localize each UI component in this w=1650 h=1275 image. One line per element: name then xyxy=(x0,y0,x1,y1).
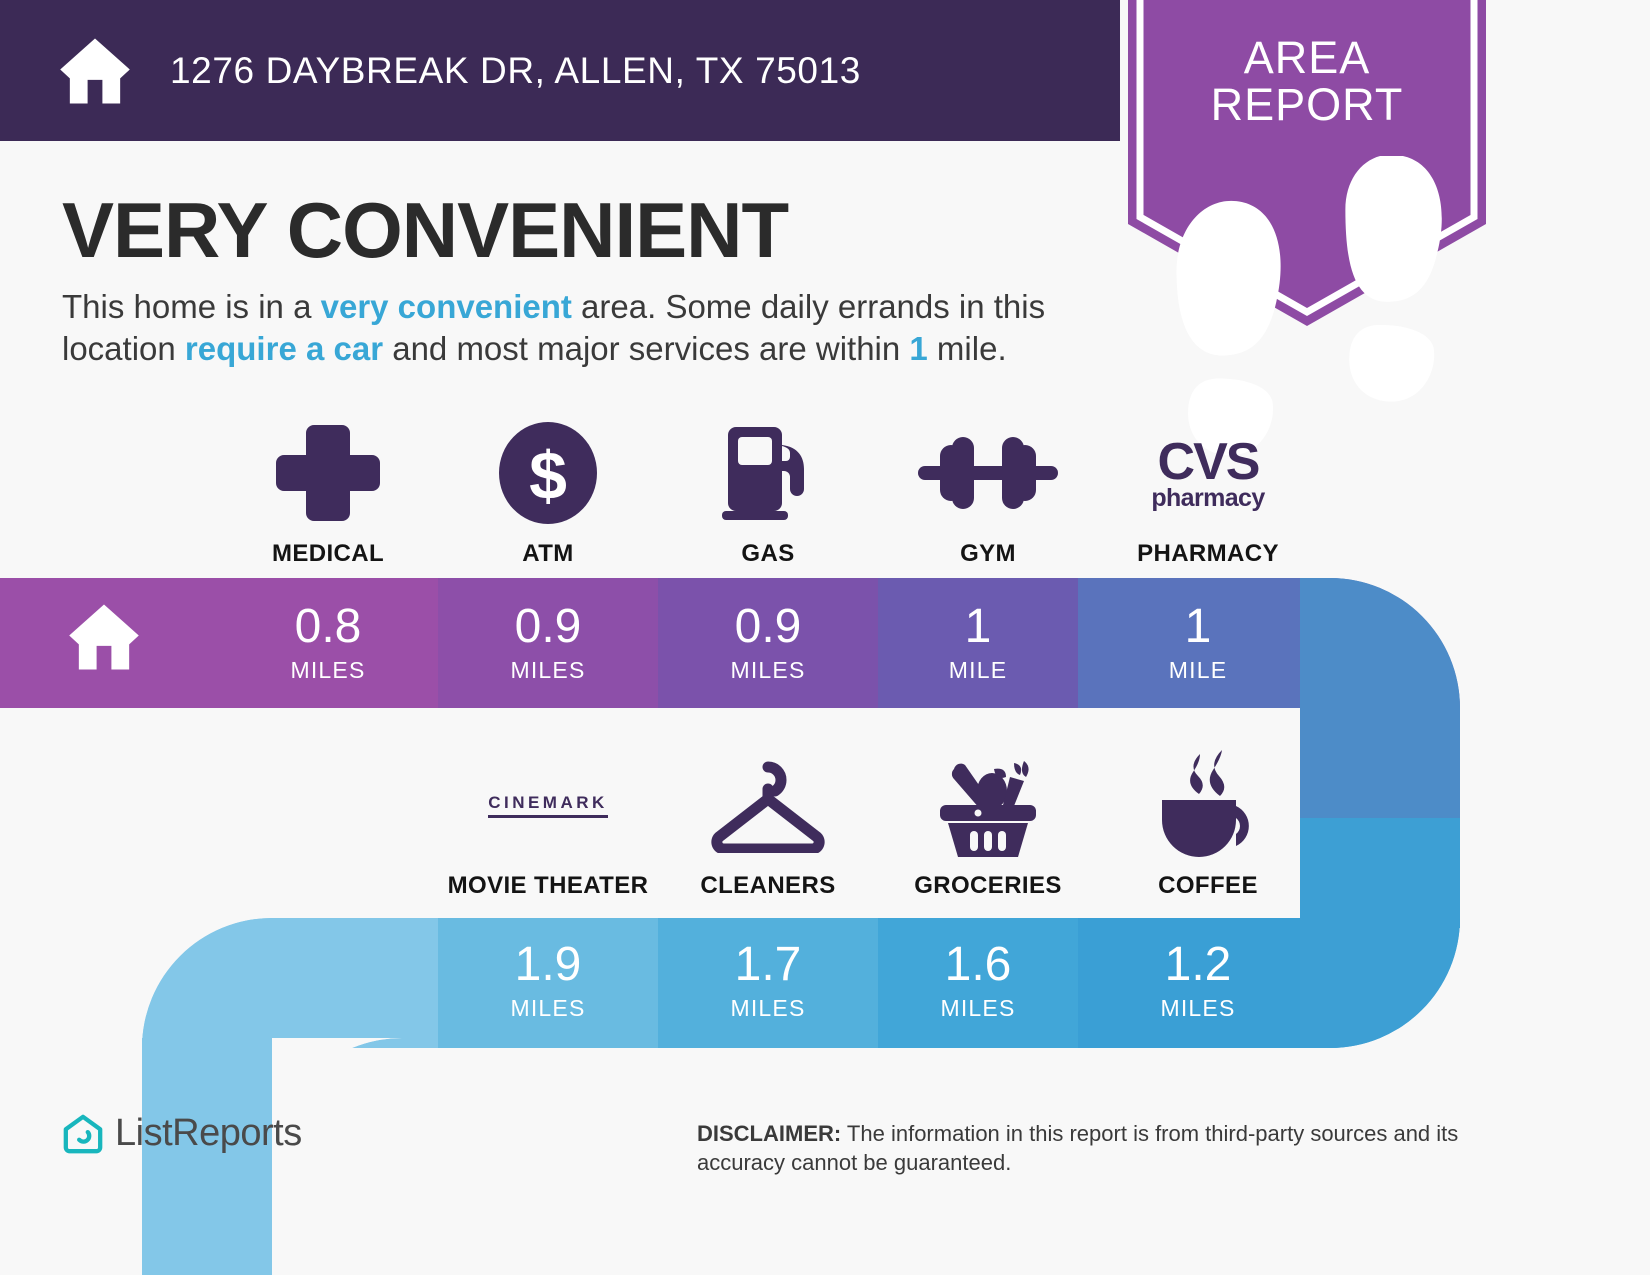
amenity-label: ATM xyxy=(522,540,573,568)
amenity-label: COFFEE xyxy=(1158,872,1258,900)
cvs-sub-wordmark: pharmacy xyxy=(1151,486,1264,511)
badge-line-1: AREA xyxy=(1128,34,1486,81)
medical-cross-icon xyxy=(276,420,380,526)
listreports-wordmark: ListReports xyxy=(115,1112,302,1155)
badge-title: AREA REPORT xyxy=(1128,34,1486,129)
amenity-gas: GAS xyxy=(658,420,878,568)
amenity-label: CLEANERS xyxy=(700,872,835,900)
header-bar: 1276 DAYBREAK DR, ALLEN, TX 75013 xyxy=(0,0,1120,141)
distance-bar-row-1 xyxy=(0,578,1460,708)
amenity-label: MOVIE THEATER xyxy=(448,872,649,900)
home-icon xyxy=(58,34,132,108)
amenity-label: GYM xyxy=(960,540,1016,568)
dumbbell-icon xyxy=(918,420,1058,526)
summary-description: This home is in a very convenient area. … xyxy=(62,286,1107,370)
cvs-pharmacy-logo: CVS pharmacy xyxy=(1151,420,1264,526)
disclaimer: DISCLAIMER: The information in this repo… xyxy=(697,1119,1509,1177)
listreports-logo: ListReports xyxy=(62,1112,302,1155)
distance-bar-row-2 xyxy=(272,918,1460,1048)
amenity-label: GROCERIES xyxy=(914,872,1062,900)
amenity-atm: $ ATM xyxy=(438,420,658,568)
dollar-circle-icon: $ xyxy=(498,420,598,526)
desc-highlight-2: require a car xyxy=(185,330,383,367)
grocery-basket-icon xyxy=(932,752,1044,858)
coffee-cup-icon xyxy=(1152,752,1264,858)
home-marker-icon xyxy=(66,600,142,674)
clothes-hanger-icon xyxy=(707,752,829,858)
area-report-page: 1276 DAYBREAK DR, ALLEN, TX 75013 AREA R… xyxy=(0,0,1650,1275)
badge-line-2: REPORT xyxy=(1128,81,1486,128)
amenity-label: GAS xyxy=(741,540,794,568)
amenity-icon-row-2: CINEMARK MOVIE THEATER CLEANERS xyxy=(438,752,1318,900)
amenity-cleaners: CLEANERS xyxy=(658,752,878,900)
desc-part-4: mile. xyxy=(928,330,1007,367)
cinemark-wordmark: CINEMARK xyxy=(488,793,608,818)
amenity-label: MEDICAL xyxy=(272,540,384,568)
amenity-pharmacy: CVS pharmacy PHARMACY xyxy=(1098,420,1318,568)
gas-pump-icon xyxy=(716,420,820,526)
desc-highlight-1: very convenient xyxy=(321,288,572,325)
amenity-movie-theater: CINEMARK MOVIE THEATER xyxy=(438,752,658,900)
area-report-badge: AREA REPORT xyxy=(1128,0,1486,326)
cvs-wordmark: CVS xyxy=(1151,436,1264,488)
amenity-label: PHARMACY xyxy=(1137,540,1279,568)
amenity-gym: GYM xyxy=(878,420,1098,568)
house-outline-icon xyxy=(62,1113,104,1155)
page-title: VERY CONVENIENT xyxy=(62,185,788,276)
svg-text:$: $ xyxy=(529,438,567,514)
disclaimer-label: DISCLAIMER: xyxy=(697,1121,841,1146)
desc-highlight-3: 1 xyxy=(909,330,927,367)
amenity-icon-row-1: MEDICAL $ ATM GAS xyxy=(218,420,1418,568)
amenity-groceries: GROCERIES xyxy=(878,752,1098,900)
amenity-coffee: COFFEE xyxy=(1098,752,1318,900)
property-address: 1276 DAYBREAK DR, ALLEN, TX 75013 xyxy=(170,50,861,92)
desc-part-1: This home is in a xyxy=(62,288,321,325)
desc-part-3: and most major services are within xyxy=(383,330,909,367)
amenity-medical: MEDICAL xyxy=(218,420,438,568)
cinemark-logo: CINEMARK xyxy=(488,752,608,858)
